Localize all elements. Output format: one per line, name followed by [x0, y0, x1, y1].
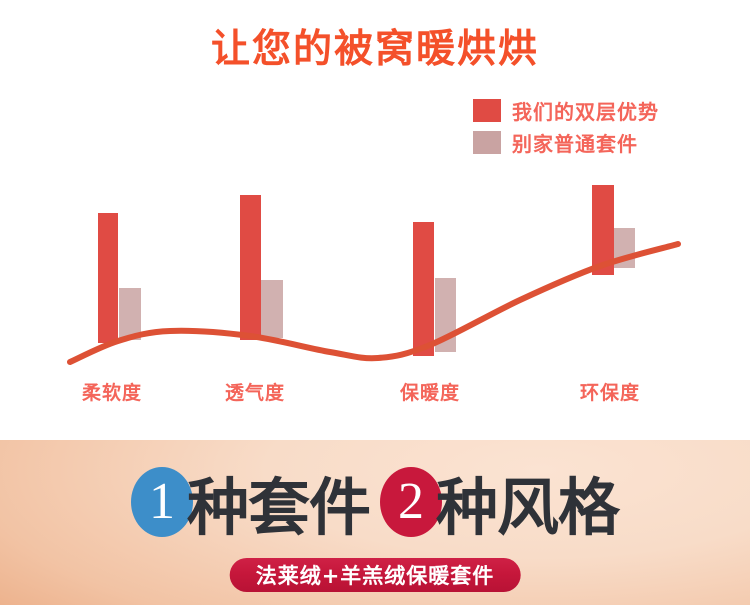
bar-main-1 — [98, 213, 118, 343]
promo-text-two: 种风格 — [436, 457, 619, 547]
bar-main-2 — [240, 195, 261, 340]
bar-alt-2 — [261, 280, 283, 338]
product-name-pill: 法莱绒+羊羔绒保暖套件 — [230, 558, 521, 592]
category-axis-labels: 柔软度透气度保暖度环保度 — [0, 378, 750, 408]
category-label-3: 保暖度 — [400, 378, 460, 405]
bar-main-3 — [413, 222, 434, 356]
promo-panel: 1 种套件 2 种风格 法莱绒+羊羔绒保暖套件 — [0, 440, 750, 605]
promo-page: 让您的被窝暖烘烘 我们的双层优势 别家普通套件 柔软度透气度保暖度环保度 1 种… — [0, 0, 750, 605]
promo-text-one: 种套件 — [187, 457, 370, 547]
trend-curve-line — [70, 244, 678, 362]
product-name-label: 法莱绒+羊羔绒保暖套件 — [256, 560, 495, 590]
category-label-4: 环保度 — [580, 378, 640, 405]
promo-headline: 1 种套件 2 种风格 — [0, 458, 750, 546]
chart-panel: 让您的被窝暖烘烘 我们的双层优势 别家普通套件 柔软度透气度保暖度环保度 — [0, 0, 750, 437]
category-label-1: 柔软度 — [82, 378, 142, 405]
chart-plot-area — [0, 0, 750, 437]
badge-one: 1 — [131, 467, 193, 537]
badge-two: 2 — [380, 467, 442, 537]
bar-alt-1 — [119, 288, 141, 340]
category-label-2: 透气度 — [225, 378, 285, 405]
